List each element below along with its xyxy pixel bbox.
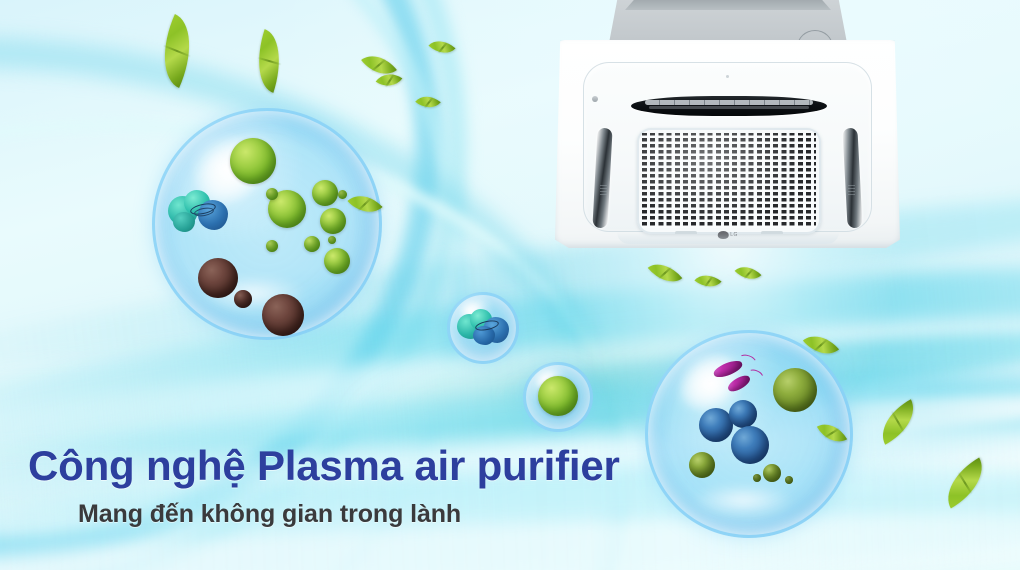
- ac-side-marking: [848, 185, 855, 195]
- page-subtitle: Mang đến không gian trong lành: [78, 500, 461, 529]
- maroon-virus: [234, 290, 252, 308]
- ac-air-outlet-vent: [631, 96, 827, 116]
- purple-bacteria: [727, 374, 767, 400]
- ac-intake-grille: [637, 128, 821, 234]
- olive-virus: [785, 476, 793, 484]
- promo-banner: LG: [0, 0, 1020, 570]
- teal-protein: [168, 190, 230, 234]
- ac-vent-louvers: [649, 106, 810, 109]
- olive-virus: [689, 452, 715, 478]
- virus-spike-knob: [300, 222, 306, 228]
- green-virus: [538, 376, 578, 416]
- small-virus-bubble: [523, 362, 593, 432]
- virus-spike-knob: [342, 230, 346, 234]
- virus-spike-knob: [334, 180, 338, 184]
- large-germ-bubble: [152, 108, 382, 340]
- ac-bottom-lip: [617, 232, 839, 244]
- air-conditioner-unit: LG: [555, 0, 900, 261]
- maroon-virus: [198, 258, 238, 298]
- blue-virus: [729, 400, 757, 428]
- virus-spike-knob: [711, 452, 715, 456]
- ac-grille-shading: [637, 128, 821, 234]
- olive-virus: [773, 368, 817, 412]
- ac-front-panel: LG: [555, 40, 900, 248]
- blue-virus: [699, 408, 733, 442]
- virus-spike-knob: [754, 402, 758, 406]
- green-virus: [324, 248, 350, 274]
- virus-spike-knob: [346, 248, 350, 252]
- green-virus: [266, 188, 278, 200]
- virus-spike-knob: [711, 474, 715, 478]
- green-virus: [312, 180, 338, 206]
- virus-spike-knob: [334, 202, 338, 206]
- page-title: Công nghệ Plasma air purifier: [28, 444, 620, 488]
- olive-virus: [753, 474, 761, 482]
- blue-virus: [731, 426, 769, 464]
- green-virus: [320, 208, 346, 234]
- green-virus: [328, 236, 336, 244]
- ac-sensor-dot: [726, 75, 729, 78]
- virus-spike-knob: [764, 456, 769, 461]
- virus-spike-knob: [342, 208, 346, 212]
- green-virus: [338, 190, 347, 199]
- green-virus: [266, 240, 278, 252]
- virus-spike-knob: [571, 409, 577, 415]
- virus-spike-knob: [346, 270, 350, 274]
- small-protein-bubble: [447, 292, 519, 364]
- ac-vent-louvers: [645, 100, 814, 105]
- ac-side-marking: [600, 185, 607, 195]
- ac-indicator-dot: [592, 96, 598, 102]
- virus-spike-knob: [689, 474, 693, 478]
- green-virus: [230, 138, 276, 184]
- virus-spike-knob: [320, 230, 324, 234]
- green-virus: [304, 236, 320, 252]
- olive-virus: [763, 464, 781, 482]
- virus-spike-knob: [312, 202, 316, 206]
- ac-chassis-top: [625, 0, 831, 10]
- maroon-virus: [262, 294, 304, 336]
- virus-spike-knob: [303, 235, 306, 238]
- bubble-highlight: [691, 484, 795, 517]
- teal-protein: [457, 309, 509, 347]
- virus-spike-knob: [324, 270, 328, 274]
